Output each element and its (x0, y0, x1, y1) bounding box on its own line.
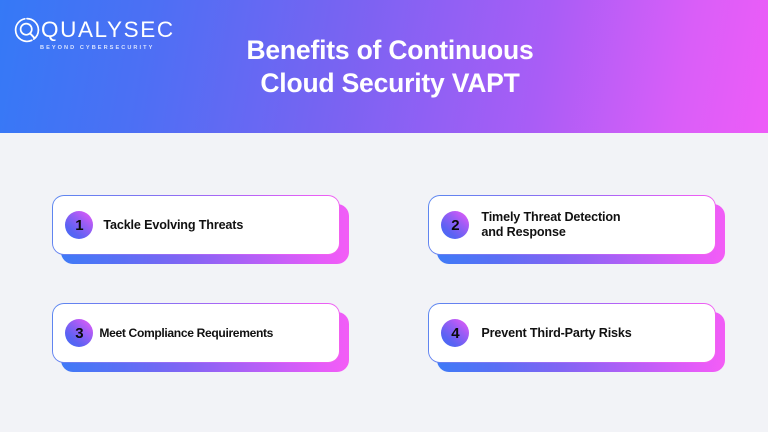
logo-wordmark-text: QUALYSEC (41, 17, 175, 43)
benefit-card-2[interactable]: 2 Timely Threat Detection and Response (428, 195, 716, 255)
qualysec-q-icon (14, 17, 40, 43)
card-label: Prevent Third-Party Risks (481, 326, 631, 341)
page-title: Benefits of Continuous Cloud Security VA… (180, 34, 600, 100)
benefit-card-3[interactable]: 3 Meet Compliance Requirements (52, 303, 340, 363)
page-title-line-1: Benefits of Continuous (180, 34, 600, 67)
header-banner: QUALYSEC BEYOND CYBERSECURITY Benefits o… (0, 0, 768, 133)
card-label: Tackle Evolving Threats (103, 218, 243, 233)
benefit-card-4[interactable]: 4 Prevent Third-Party Risks (428, 303, 716, 363)
card-content: 3 Meet Compliance Requirements (53, 304, 338, 361)
card-number-badge: 4 (441, 319, 469, 347)
card-content: 1 Tackle Evolving Threats (53, 196, 338, 253)
card-border: 4 Prevent Third-Party Risks (428, 303, 716, 363)
benefits-card-grid: 1 Tackle Evolving Threats 2 Timely Threa… (0, 133, 768, 432)
card-label-line-1: Meet Compliance Requirements (99, 326, 273, 340)
card-border: 3 Meet Compliance Requirements (52, 303, 340, 363)
card-label-line-1: Timely Threat Detection (481, 210, 620, 224)
page-title-line-2: Cloud Security VAPT (180, 67, 600, 100)
brand-logo[interactable]: QUALYSEC BEYOND CYBERSECURITY (14, 16, 164, 60)
logo-tagline: BEYOND CYBERSECURITY (40, 44, 154, 52)
card-number-badge: 2 (441, 211, 469, 239)
card-label: Meet Compliance Requirements (99, 326, 273, 341)
card-label-line-1: Tackle Evolving Threats (103, 218, 243, 232)
card-content: 4 Prevent Third-Party Risks (429, 304, 714, 361)
card-label-line-1: Prevent Third-Party Risks (481, 326, 631, 340)
infographic-poster: QUALYSEC BEYOND CYBERSECURITY Benefits o… (0, 0, 768, 432)
card-content: 2 Timely Threat Detection and Response (429, 196, 714, 253)
card-label-line-2: and Response (481, 225, 620, 240)
logo-wordmark-row: QUALYSEC (14, 16, 175, 43)
card-number-badge: 3 (65, 319, 93, 347)
card-label: Timely Threat Detection and Response (481, 210, 620, 240)
card-border: 2 Timely Threat Detection and Response (428, 195, 716, 255)
benefit-card-1[interactable]: 1 Tackle Evolving Threats (52, 195, 340, 255)
card-border: 1 Tackle Evolving Threats (52, 195, 340, 255)
card-number-badge: 1 (65, 211, 93, 239)
